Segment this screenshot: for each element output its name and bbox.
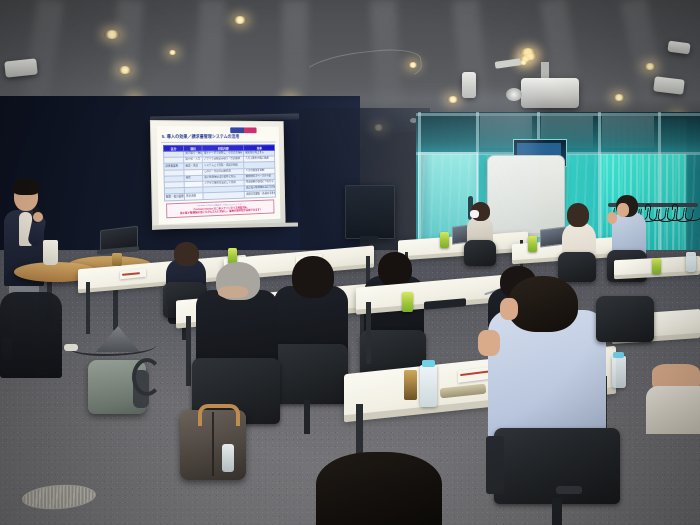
slide-logo-icon — [230, 127, 256, 133]
ceiling-light-fixture — [4, 58, 37, 77]
attendee-7-head — [567, 203, 589, 227]
hanger-icon — [684, 208, 700, 221]
drink-can — [440, 232, 449, 248]
small-brown-bottle — [404, 370, 417, 400]
seminar-room-photo: 5. 導入の効果／請求書管理システムの活用 区分 項目 対応内容 効果 受け取り… — [0, 0, 700, 525]
water-bottle — [612, 356, 626, 388]
hanger-hook-icon — [672, 204, 678, 210]
drink-can — [652, 258, 661, 274]
chair-post — [304, 400, 310, 434]
downlight — [613, 94, 625, 101]
downlight — [104, 30, 120, 39]
table-leg — [366, 302, 371, 364]
bottle-cap — [422, 360, 435, 367]
floor-adapter — [64, 344, 78, 351]
water-bottle — [420, 365, 437, 407]
attendee-8-hand — [607, 212, 617, 224]
slide: 5. 導入の効果／請求書管理システムの活用 区分 項目 対応内容 効果 受け取り… — [157, 126, 281, 225]
slide-table-body: 受け取り・保存電子データで受領し、そのまま保存検索性が向上する電子化・入力アプリ… — [164, 150, 276, 200]
attendee-2-face — [218, 286, 248, 298]
backpack-grey-strap — [132, 358, 162, 396]
slide-table-cell — [203, 192, 245, 199]
slide-table-cell: 決算の早期化・負荷の平準化 — [245, 191, 276, 198]
table-leg — [86, 282, 90, 334]
coffee-cup — [43, 240, 58, 265]
small-bottle — [112, 253, 122, 266]
presenter-hand — [33, 212, 43, 222]
downlight — [233, 16, 247, 24]
chair-row2-center — [268, 344, 348, 404]
downlight — [447, 96, 459, 103]
attendee-9-ear-face — [500, 298, 518, 320]
slide-callout-box: Contract Invoice の機能をご利用いただくことで…… Contra… — [166, 200, 274, 219]
slide-title-rule — [161, 142, 276, 143]
whiteboard — [487, 155, 565, 237]
downlight — [644, 63, 656, 70]
attendee-9-hand — [478, 330, 500, 356]
screen-surface: 5. 導入の効果／請求書管理システムの活用 区分 項目 対応内容 効果 受け取り… — [151, 121, 285, 229]
downlight — [118, 66, 132, 74]
slide-table-cell: 経理・会計業務 — [164, 194, 184, 201]
chair-row1-right-2 — [558, 252, 596, 282]
drink-can — [402, 292, 413, 312]
drink-can — [528, 236, 537, 252]
projector-lens-icon — [506, 88, 522, 101]
backpack-brown-zipper — [212, 412, 214, 476]
attendee-3-head — [292, 256, 334, 298]
chair-post — [552, 498, 562, 525]
water-bottle — [686, 252, 696, 272]
attendee-8-face — [617, 203, 629, 217]
wall-monitor — [345, 185, 395, 239]
attendee-foreground-sleeve — [646, 386, 700, 434]
attendee-5-head — [378, 252, 412, 286]
backpack-side-bottle — [222, 444, 234, 472]
chair-armrest — [486, 436, 504, 494]
face-mask — [470, 210, 479, 218]
presenter-hair — [12, 179, 40, 195]
attendee-10-head — [316, 452, 442, 525]
slide-title: 5. 導入の効果／請求書管理システムの活用 — [162, 134, 276, 141]
ceiling-speaker — [462, 72, 476, 98]
downlight — [168, 50, 177, 55]
backpack-brown-handle — [198, 404, 240, 426]
attendee-1-head — [174, 242, 199, 266]
glass-panel — [602, 116, 654, 148]
slide-table: 区分 項目 対応内容 効果 受け取り・保存電子データで受領し、そのまま保存検索性… — [163, 144, 276, 201]
hanger-hook-icon — [645, 204, 651, 210]
wall-monitor-bracket — [360, 236, 378, 241]
chair-lever — [556, 486, 582, 494]
bottle-cap — [613, 352, 624, 358]
downlight — [408, 62, 418, 68]
chair-far-right — [596, 296, 654, 342]
attendee-2-body — [0, 292, 62, 378]
slide-table-cell: 月次決算 — [185, 193, 204, 200]
projection-screen: 5. 導入の効果／請求書管理システムの活用 区分 項目 対応内容 効果 受け取り… — [150, 120, 286, 230]
table-leg — [186, 316, 191, 386]
projector-icon — [521, 78, 579, 108]
attendee-9-head — [508, 276, 578, 332]
chair-row1-right — [464, 240, 496, 266]
